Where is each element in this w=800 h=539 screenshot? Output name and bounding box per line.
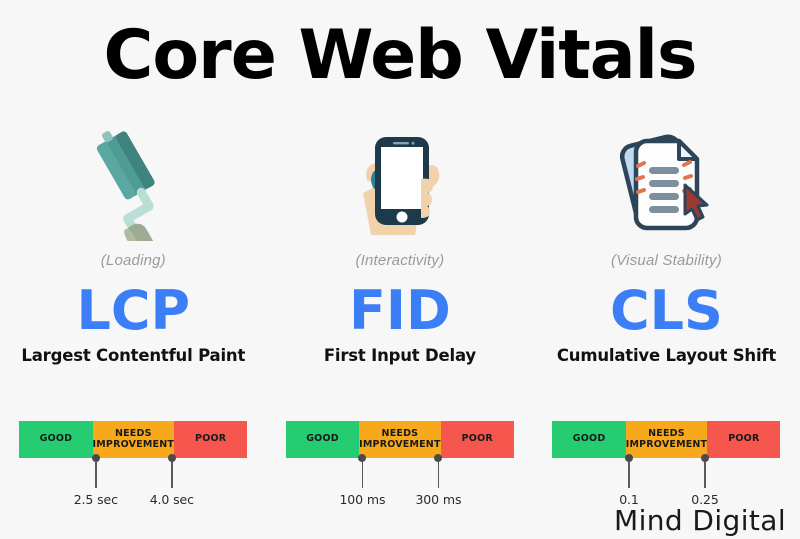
tick-dot-icon [434, 454, 442, 462]
scale-column-fid: GOOD NEEDS IMPROVEMENT POOR 100 ms 300 m… [267, 421, 534, 514]
page-title: Core Web Vitals [0, 22, 800, 90]
tick-dot-icon [92, 454, 100, 462]
hand-holding-phone-icon [341, 122, 459, 242]
metric-abbr-cls: CLS [610, 283, 723, 338]
metric-columns: (Loading) LCP Largest Contentful Paint [0, 122, 800, 365]
tick-dot-icon [168, 454, 176, 462]
shifting-document-cursor-icon [607, 122, 725, 242]
metric-column-lcp: (Loading) LCP Largest Contentful Paint [0, 122, 267, 365]
threshold-tick-fid-1: 100 ms [362, 454, 363, 507]
threshold-tick-lcp-2: 4.0 sec [171, 454, 172, 507]
paint-roller-icon [74, 122, 192, 242]
scale-column-cls: GOOD NEEDS IMPROVEMENT POOR 0.1 0.25 [533, 421, 800, 514]
watermark: Mind Digital [614, 504, 786, 537]
metric-abbr-fid: FID [349, 283, 451, 338]
threshold-ticks-lcp: 2.5 sec 4.0 sec [19, 458, 247, 514]
threshold-ticks-fid: 100 ms 300 ms [286, 458, 514, 514]
scale-column-lcp: GOOD NEEDS IMPROVEMENT POOR 2.5 sec 4.0 … [0, 421, 267, 514]
segment-poor-cls: POOR [707, 421, 780, 458]
segment-poor-fid: POOR [441, 421, 514, 458]
segment-good-lcp: GOOD [19, 421, 92, 458]
threshold-label-fid-2: 300 ms [415, 492, 461, 507]
tick-line [704, 462, 706, 488]
tick-dot-icon [625, 454, 633, 462]
metric-name-lcp: Largest Contentful Paint [21, 346, 245, 365]
segment-needs-improvement-cls: NEEDS IMPROVEMENT [626, 421, 708, 458]
segment-needs-improvement-fid: NEEDS IMPROVEMENT [359, 421, 441, 458]
aspect-label-fid: (Interactivity) [355, 252, 444, 269]
aspect-label-lcp: (Loading) [101, 252, 166, 269]
threshold-tick-cls-1: 0.1 [628, 454, 629, 507]
threshold-label-fid-1: 100 ms [339, 492, 385, 507]
metric-column-fid: (Interactivity) FID First Input Delay [267, 122, 534, 365]
threshold-tick-fid-2: 300 ms [438, 454, 439, 507]
tick-line [438, 462, 440, 488]
segment-good-cls: GOOD [552, 421, 625, 458]
threshold-label-lcp-2: 4.0 sec [150, 492, 194, 507]
core-web-vitals-infographic: Core Web Vitals [0, 0, 800, 539]
scale-bar-fid: GOOD NEEDS IMPROVEMENT POOR [286, 421, 514, 458]
metric-name-cls: Cumulative Layout Shift [557, 346, 776, 365]
tick-line [171, 462, 173, 488]
aspect-label-cls: (Visual Stability) [611, 252, 722, 269]
threshold-label-lcp-1: 2.5 sec [74, 492, 118, 507]
segment-poor-lcp: POOR [174, 421, 247, 458]
tick-line [628, 462, 630, 488]
scale-bar-lcp: GOOD NEEDS IMPROVEMENT POOR [19, 421, 247, 458]
threshold-tick-cls-2: 0.25 [704, 454, 705, 507]
tick-line [95, 462, 97, 488]
segment-good-fid: GOOD [286, 421, 359, 458]
metric-abbr-lcp: LCP [76, 283, 190, 338]
threshold-scales: GOOD NEEDS IMPROVEMENT POOR 2.5 sec 4.0 … [0, 421, 800, 514]
segment-needs-improvement-lcp: NEEDS IMPROVEMENT [93, 421, 175, 458]
tick-line [362, 462, 364, 488]
metric-name-fid: First Input Delay [324, 346, 476, 365]
threshold-tick-lcp-1: 2.5 sec [95, 454, 96, 507]
scale-bar-cls: GOOD NEEDS IMPROVEMENT POOR [552, 421, 780, 458]
tick-dot-icon [358, 454, 366, 462]
tick-dot-icon [701, 454, 709, 462]
metric-column-cls: (Visual Stability) CLS Cumulative Layout… [533, 122, 800, 365]
